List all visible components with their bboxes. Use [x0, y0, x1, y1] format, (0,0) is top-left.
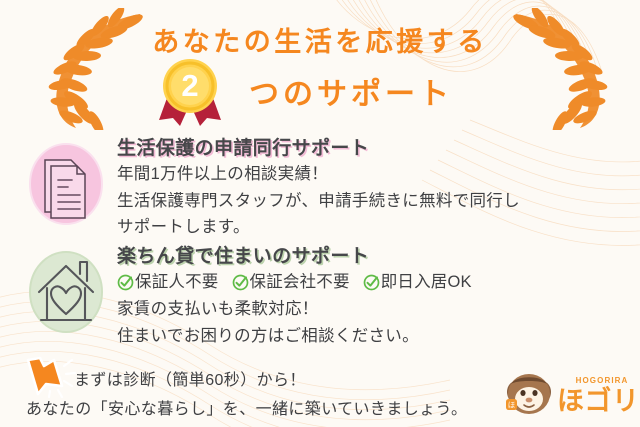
- footer-line-2: あなたの「安心な暮らし」を、一緒に築いていきましょう。: [26, 395, 467, 419]
- promo-banner: あなたの生活を応援する 2 つのサポート: [0, 0, 640, 427]
- feature-badge-2-label: 保証会社不要: [250, 269, 350, 296]
- feature-badge-1: 保証人不要: [117, 269, 219, 296]
- support-2-line-1: 家賃の支払いも柔軟対応！: [117, 296, 627, 323]
- support-1-line-3: サポートします。: [117, 214, 627, 241]
- hogorira-logo[interactable]: ほ HOGORIRA ほゴリラ: [502, 372, 634, 416]
- banner-title-line-1: あなたの生活を応援する: [0, 20, 640, 59]
- click-cursor-icon: [24, 354, 76, 398]
- support-2-line-2: 住まいでお困りの方はご相談ください。: [117, 323, 627, 350]
- banner-footer: まずは診断（簡単60秒）から！ あなたの「安心な暮らし」を、一緒に築いていきまし…: [0, 352, 640, 427]
- gorilla-mascot-icon: ほ: [506, 374, 551, 414]
- house-heart-icon: [26, 246, 106, 338]
- check-circle-icon: [232, 274, 249, 291]
- feature-badge-2: 保証会社不要: [232, 269, 350, 296]
- support-2-heading: 楽ちん貸で住まいのサポート: [117, 244, 627, 269]
- medal-number: 2: [157, 58, 223, 114]
- logo-wordmark: ほゴリラ: [557, 385, 634, 416]
- check-circle-icon: [117, 274, 134, 291]
- support-1-line-1: 年間1万件以上の相談実績！: [117, 161, 627, 188]
- check-circle-icon: [363, 274, 380, 291]
- support-1-body: 生活保護の申請同行サポート 年間1万件以上の相談実績！ 生活保護専門スタッフが、…: [117, 136, 627, 241]
- support-1-heading: 生活保護の申請同行サポート: [117, 136, 627, 161]
- document-stack-icon: [26, 138, 106, 230]
- feature-badge-3: 即日入居OK: [363, 269, 472, 296]
- footer-line-1: まずは診断（簡単60秒）から！: [74, 366, 306, 390]
- feature-badge-3-label: 即日入居OK: [381, 269, 472, 296]
- support-1-line-2: 生活保護専門スタッフが、申請手続きに無料で同行し: [117, 188, 627, 215]
- award-medal-icon: 2: [157, 58, 223, 126]
- logo-romaji: HOGORIRA: [576, 376, 629, 385]
- banner-header: あなたの生活を応援する 2 つのサポート: [0, 0, 640, 128]
- feature-badge-1-label: 保証人不要: [135, 269, 219, 296]
- svg-text:ほ: ほ: [508, 400, 516, 409]
- banner-title-line-2: つのサポート: [0, 69, 640, 113]
- support-2-feature-list: 保証人不要 保証会社不要 即日入居OK: [117, 269, 627, 296]
- support-2-body: 楽ちん貸で住まいのサポート 保証人不要 保証会社不要: [117, 244, 627, 349]
